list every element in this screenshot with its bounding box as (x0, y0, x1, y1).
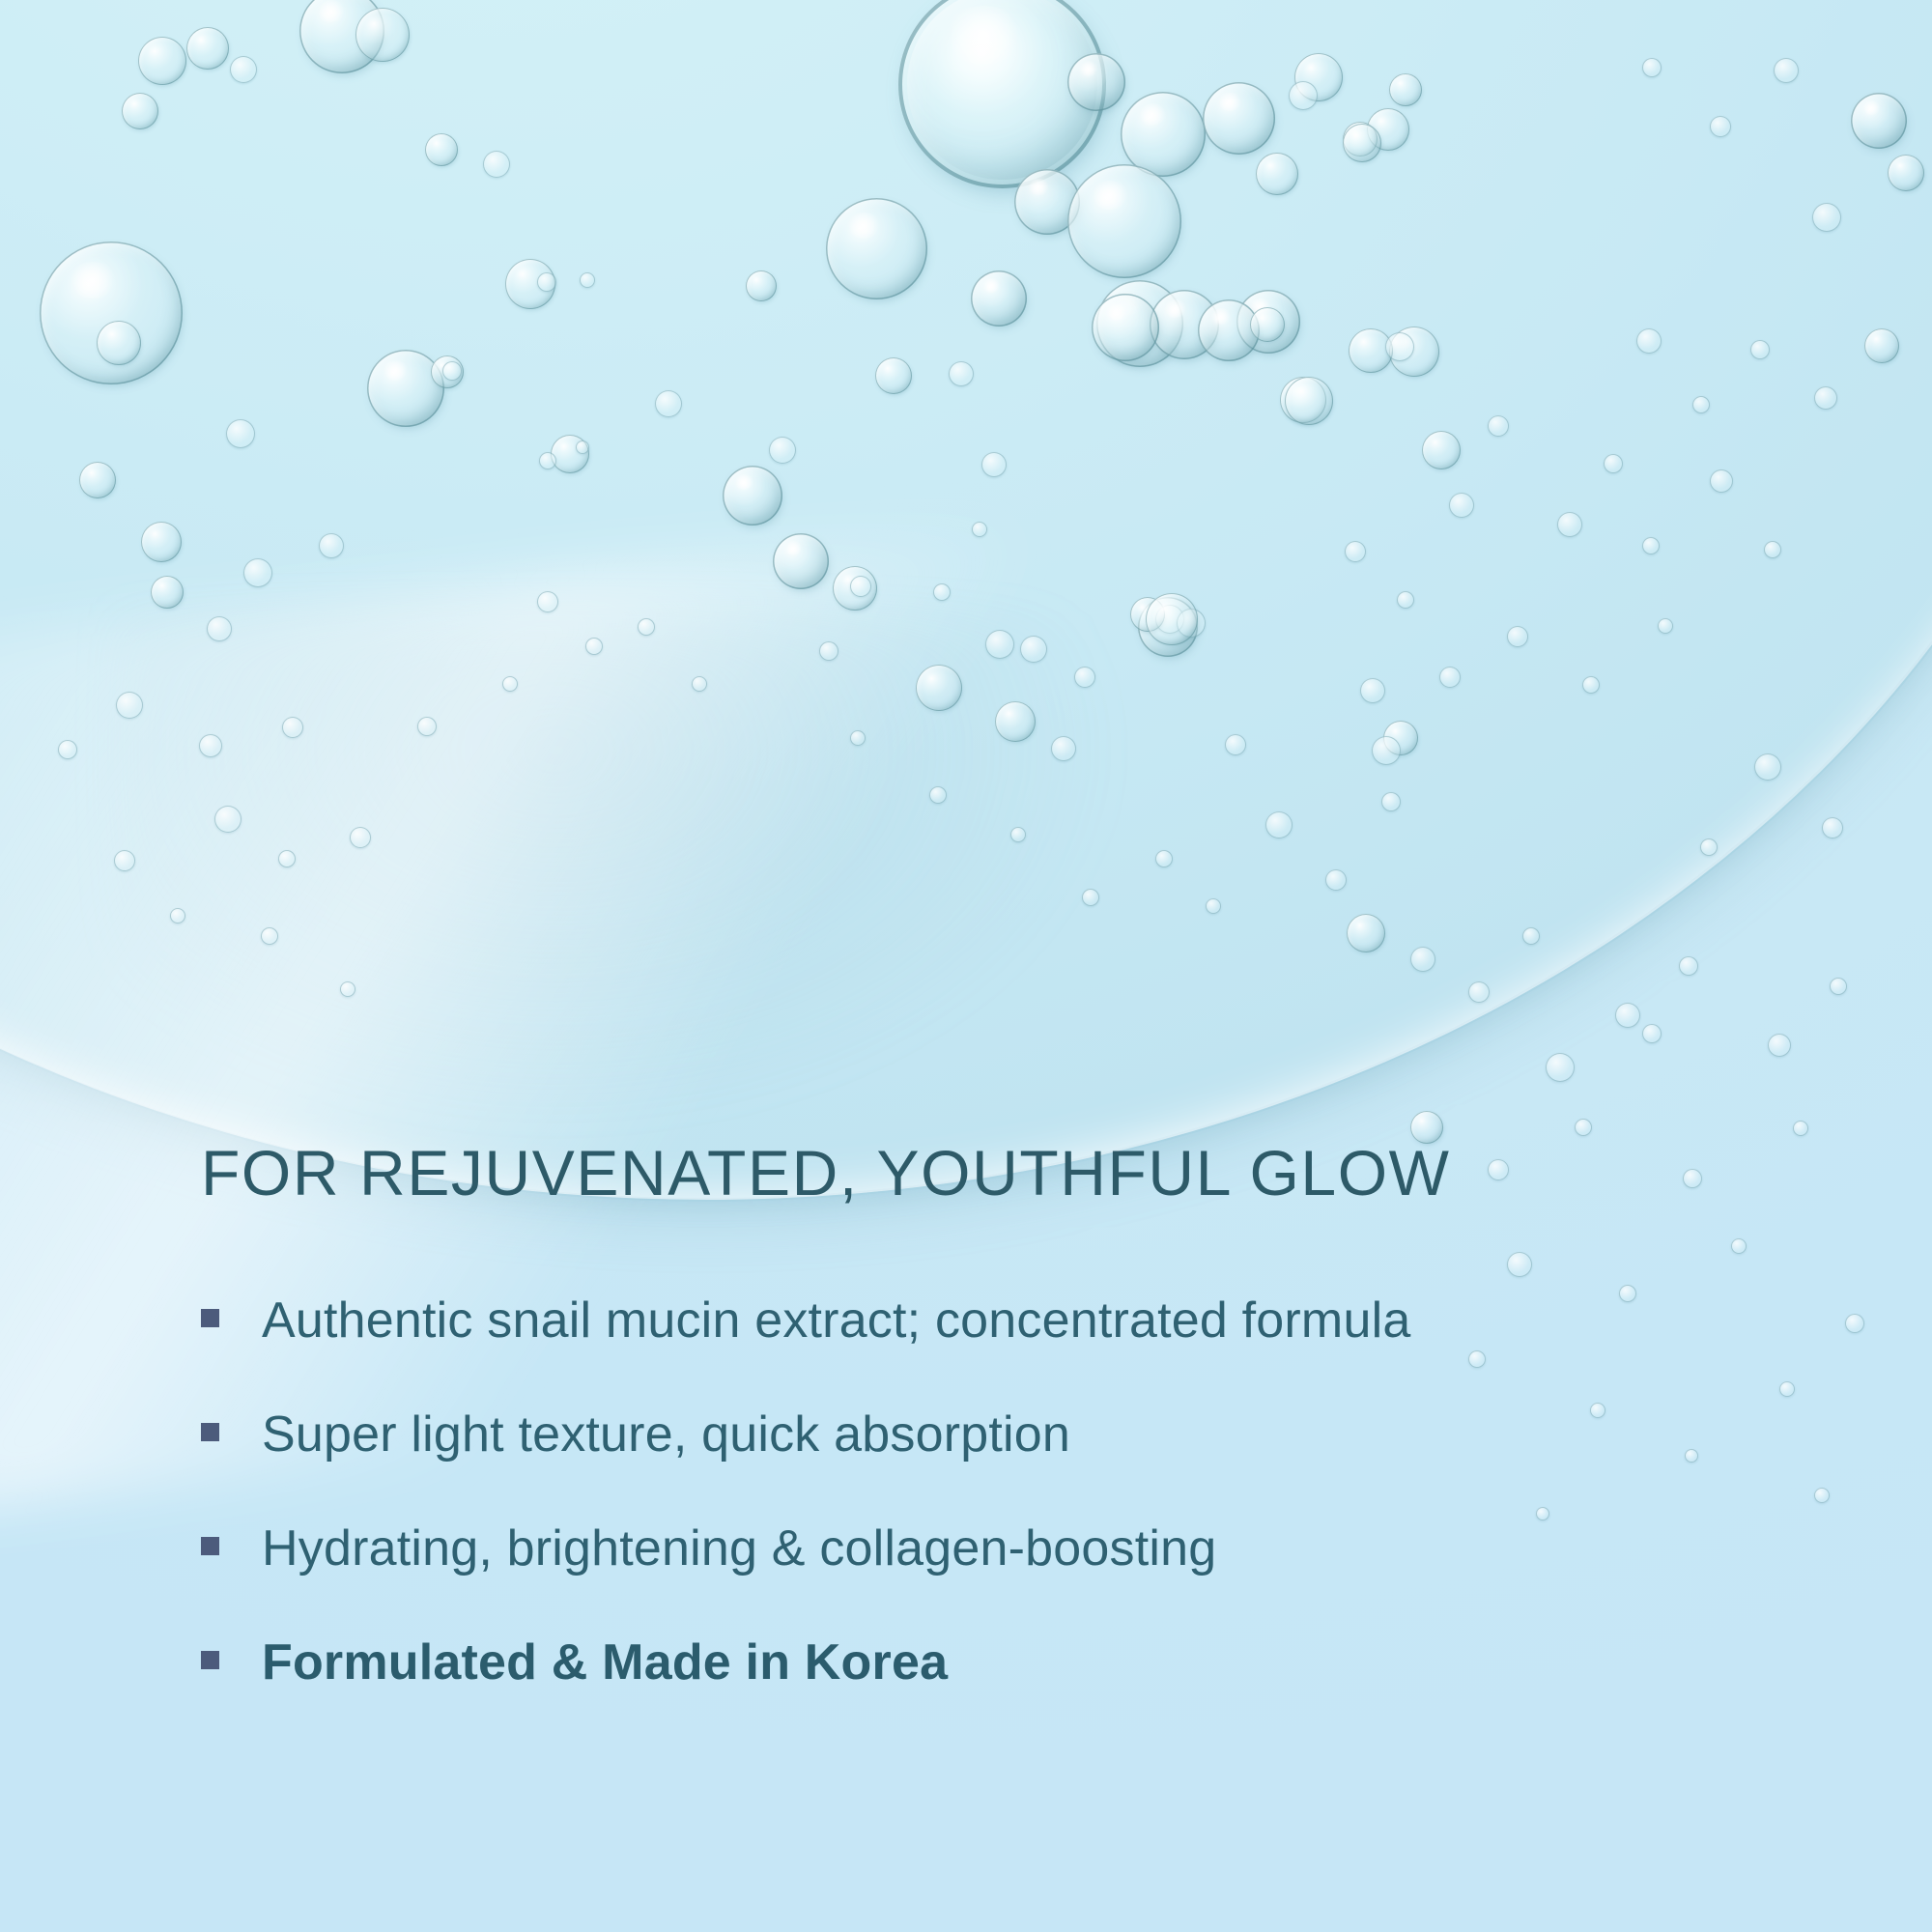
bubble (875, 357, 912, 394)
bubble (1710, 116, 1731, 137)
bubble (230, 56, 257, 83)
bubble (1225, 734, 1246, 755)
bubble (1360, 678, 1385, 703)
bubble (186, 27, 229, 70)
bubble (278, 850, 296, 867)
bubble (1067, 164, 1181, 278)
bubble (1636, 328, 1662, 354)
bubble (1768, 1034, 1791, 1057)
bubble (425, 133, 458, 166)
bubble (585, 638, 603, 655)
bubble (1206, 898, 1221, 914)
bubble (769, 437, 796, 464)
bubble (1864, 328, 1899, 363)
bubble (655, 390, 682, 417)
bubble (226, 419, 255, 448)
bubble (1372, 736, 1401, 765)
bubble (138, 37, 186, 85)
bubble (1750, 340, 1770, 359)
bubble (1343, 124, 1381, 162)
bubble (1642, 58, 1662, 77)
bubble (638, 618, 655, 636)
bubble (1347, 914, 1385, 952)
bubble (1615, 1003, 1640, 1028)
bubble (207, 616, 232, 641)
bubble (773, 533, 829, 589)
list-item: Authentic snail mucin extract; concentra… (201, 1291, 1932, 1379)
bubble (350, 827, 371, 848)
bubble (1812, 203, 1841, 232)
bubble (1285, 377, 1333, 425)
bubble (1092, 294, 1159, 361)
bubble (355, 8, 410, 62)
bubble (1155, 850, 1173, 867)
bubble (537, 272, 556, 292)
bubble (1679, 956, 1698, 976)
bubble (576, 440, 589, 454)
bubble (850, 576, 871, 597)
bubble (170, 908, 185, 923)
list-item-label: Hydrating, brightening & collagen-boosti… (262, 1519, 1216, 1579)
list-item-label: Authentic snail mucin extract; concentra… (262, 1291, 1410, 1351)
copy-block: FOR REJUVENATED, YOUTHFUL GLOW Authentic… (0, 1140, 1932, 1721)
list-item-label: Formulated & Made in Korea (262, 1633, 948, 1693)
list-item-label: Super light texture, quick absorption (262, 1405, 1070, 1465)
bubble (1289, 81, 1318, 110)
square-bullet-icon (201, 1423, 219, 1441)
bubble (1074, 667, 1095, 688)
bubble (1522, 927, 1540, 945)
bubble (502, 676, 518, 692)
bubble (261, 927, 278, 945)
bubble (985, 630, 1014, 659)
bubble (1389, 73, 1422, 106)
bubble (1604, 454, 1623, 473)
feature-list: Authentic snail mucin extract; concentra… (0, 1291, 1932, 1721)
bubble (1700, 838, 1718, 856)
bubble (723, 466, 782, 526)
bubble (1830, 978, 1847, 995)
bubble (1385, 332, 1414, 361)
bubble (949, 361, 974, 386)
bubble (995, 701, 1036, 742)
bubble (692, 676, 707, 692)
bubble (1051, 736, 1076, 761)
bubble (243, 558, 272, 587)
page-title: FOR REJUVENATED, YOUTHFUL GLOW (201, 1140, 1932, 1207)
bubble (1422, 431, 1461, 469)
bubble (1658, 618, 1673, 634)
bubble (199, 734, 222, 757)
list-item: Formulated & Made in Korea (201, 1633, 1932, 1721)
bubble (1754, 753, 1781, 781)
bubble (746, 270, 777, 301)
bubble (916, 665, 962, 711)
bubble (1381, 792, 1401, 811)
bubble (1575, 1119, 1592, 1136)
bubble (1764, 541, 1781, 558)
bubble (79, 462, 116, 498)
bubble (367, 350, 444, 427)
bubble (1582, 676, 1600, 694)
list-item: Hydrating, brightening & collagen-boosti… (201, 1519, 1932, 1607)
bubble (1082, 889, 1099, 906)
bubble (1325, 869, 1347, 891)
bubble (442, 361, 462, 381)
bubble (1710, 469, 1733, 493)
bubble (151, 576, 184, 609)
bubble (1557, 512, 1582, 537)
bubble (116, 692, 143, 719)
bubble (1203, 82, 1275, 155)
bubble (58, 740, 77, 759)
bubble (1692, 396, 1710, 413)
bubble (1888, 155, 1924, 191)
bubble (141, 522, 182, 562)
square-bullet-icon (201, 1537, 219, 1555)
bubble (1410, 947, 1435, 972)
bubble (340, 981, 355, 997)
bubble (97, 321, 141, 365)
bubble (826, 198, 927, 299)
bubble (114, 850, 135, 871)
bubble (929, 786, 947, 804)
bubble (580, 272, 595, 288)
bubble (971, 270, 1027, 327)
bubble (1256, 153, 1298, 195)
bubble (539, 452, 556, 469)
bubble (1449, 493, 1474, 518)
bubble (319, 533, 344, 558)
bubble (1822, 817, 1843, 838)
bubble (1265, 811, 1293, 838)
bubble (1774, 58, 1799, 83)
bubble (1397, 591, 1414, 609)
bubble (1250, 307, 1285, 342)
bubble (1488, 415, 1509, 437)
bubble (1020, 636, 1047, 663)
bubble (981, 452, 1007, 477)
bubble (1345, 541, 1366, 562)
bubble (1814, 386, 1837, 410)
bubble (1546, 1053, 1575, 1082)
square-bullet-icon (201, 1309, 219, 1327)
bubble (282, 717, 303, 738)
square-bullet-icon (201, 1651, 219, 1669)
bubble (1793, 1121, 1808, 1136)
bubble (483, 151, 510, 178)
bubble (850, 730, 866, 746)
bubble (122, 93, 158, 129)
bubble (1642, 537, 1660, 554)
bubble (1642, 1024, 1662, 1043)
bubble (972, 522, 987, 537)
bubble (417, 717, 437, 736)
bubble (1507, 626, 1528, 647)
bubble (1146, 593, 1198, 645)
bubble (819, 641, 838, 661)
marketing-graphic: FOR REJUVENATED, YOUTHFUL GLOW Authentic… (0, 0, 1932, 1932)
list-item: Super light texture, quick absorption (201, 1405, 1932, 1493)
bubble (214, 806, 241, 833)
bubble (537, 591, 558, 612)
bubble (933, 583, 951, 601)
bubble (1439, 667, 1461, 688)
bubble (1010, 827, 1026, 842)
bubble (1851, 93, 1907, 149)
bubble (1067, 53, 1125, 111)
bubble (1468, 981, 1490, 1003)
